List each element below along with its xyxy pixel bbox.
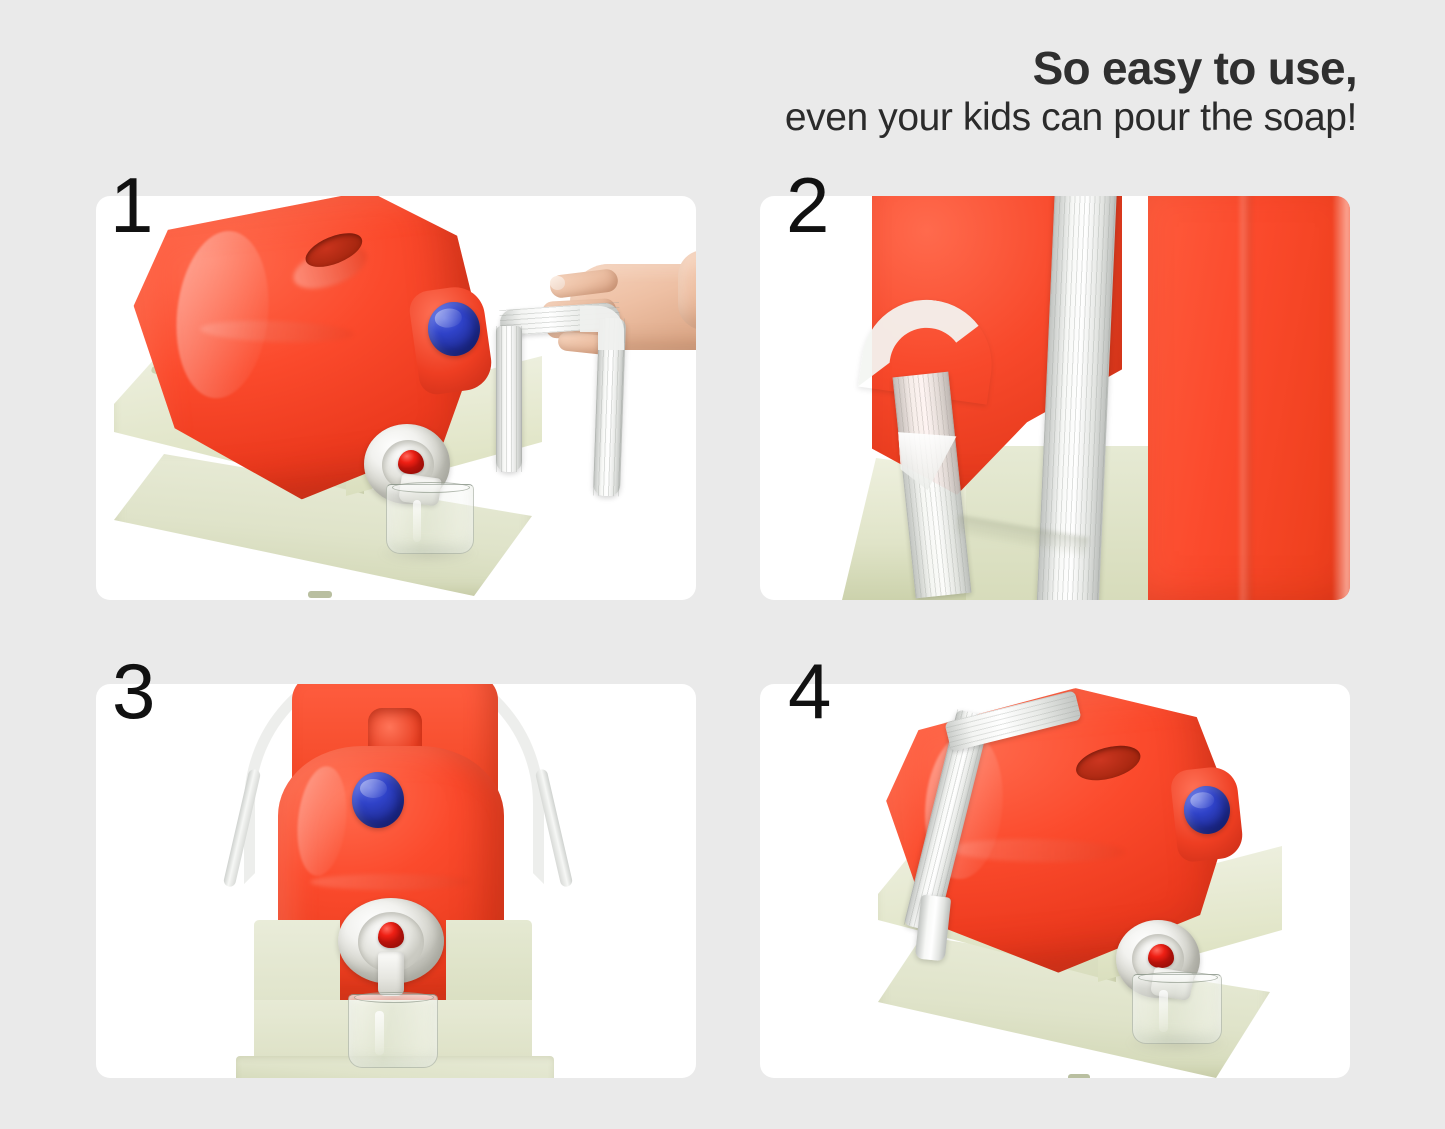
- strap-curve-lower-2: [893, 372, 972, 599]
- step-number-1: 1: [110, 166, 153, 244]
- jug-right-edge-gloss-2: [1332, 196, 1350, 600]
- clear-cup-1: [386, 484, 474, 554]
- red-valve-button-3: [378, 922, 404, 948]
- headline-line-2: even your kids can pour the soap!: [785, 96, 1357, 141]
- stand-foot-1: [308, 591, 332, 598]
- blue-cap-3: [352, 772, 404, 828]
- step-2-illustration: [760, 196, 1350, 600]
- stand-foot-4: [1068, 1074, 1090, 1078]
- jug-front-crease-3: [310, 874, 470, 890]
- spigot-assembly-3: [338, 898, 444, 998]
- headline-line-1: So easy to use,: [785, 44, 1357, 92]
- step-1-panel: [96, 196, 696, 600]
- step-3-illustration: [96, 684, 696, 1078]
- red-valve-button-1: [398, 450, 424, 474]
- index-nail-1: [550, 276, 565, 290]
- u-strap-left-leg-1: [496, 326, 522, 472]
- u-strap-left-ribs-1: [496, 326, 522, 472]
- step-number-3: 3: [112, 652, 155, 730]
- step-2-panel: [760, 196, 1350, 600]
- infographic-stage: So easy to use, even your kids can pour …: [0, 0, 1445, 1129]
- step-number-2: 2: [786, 166, 829, 244]
- clear-cup-3: [348, 994, 438, 1068]
- step-number-4: 4: [788, 652, 831, 730]
- step-4-panel: [760, 684, 1350, 1078]
- step-1-illustration: [96, 196, 696, 600]
- clear-cup-4: [1132, 974, 1222, 1044]
- spigot-spout-3: [378, 952, 404, 996]
- headline-block: So easy to use, even your kids can pour …: [785, 44, 1357, 141]
- step-3-panel: [96, 684, 696, 1078]
- strap-curve-lower-ribs-2: [893, 372, 972, 599]
- strap-free-end-2: [864, 300, 1036, 600]
- red-valve-button-4: [1148, 944, 1174, 968]
- jug-right-seam-2: [1240, 196, 1252, 600]
- step-4-illustration: [760, 684, 1350, 1078]
- u-strap-1: [496, 306, 642, 496]
